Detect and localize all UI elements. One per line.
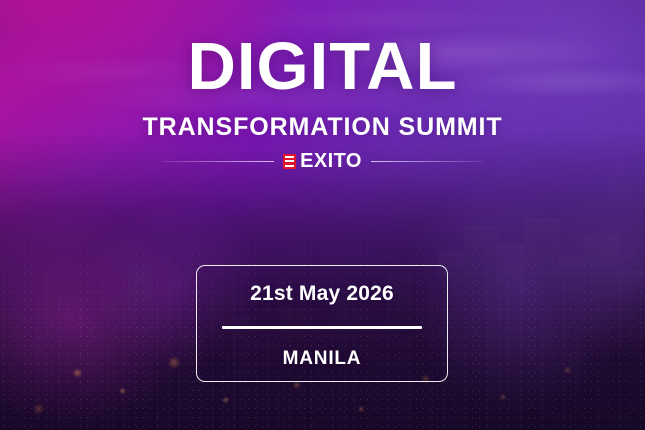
event-date: 21st May 2026 — [250, 283, 394, 304]
event-title-main: DIGITAL — [0, 33, 645, 100]
exito-logo: EXITO — [274, 151, 371, 171]
brand-rule-right-icon — [371, 161, 483, 162]
brand-row: EXITO — [0, 151, 645, 171]
brand-name: EXITO — [300, 151, 362, 171]
banner-content: DIGITAL TRANSFORMATION SUMMIT EXITO 21st… — [0, 0, 645, 430]
brand-rule-left-icon — [162, 161, 274, 162]
bars-mark-icon — [283, 154, 296, 169]
horizontal-divider-icon — [222, 326, 422, 328]
event-banner: DIGITAL TRANSFORMATION SUMMIT EXITO 21st… — [0, 0, 645, 430]
event-city: MANILA — [283, 349, 362, 368]
event-info-box: 21st May 2026 MANILA — [196, 265, 448, 382]
event-title-sub: TRANSFORMATION SUMMIT — [0, 115, 645, 140]
